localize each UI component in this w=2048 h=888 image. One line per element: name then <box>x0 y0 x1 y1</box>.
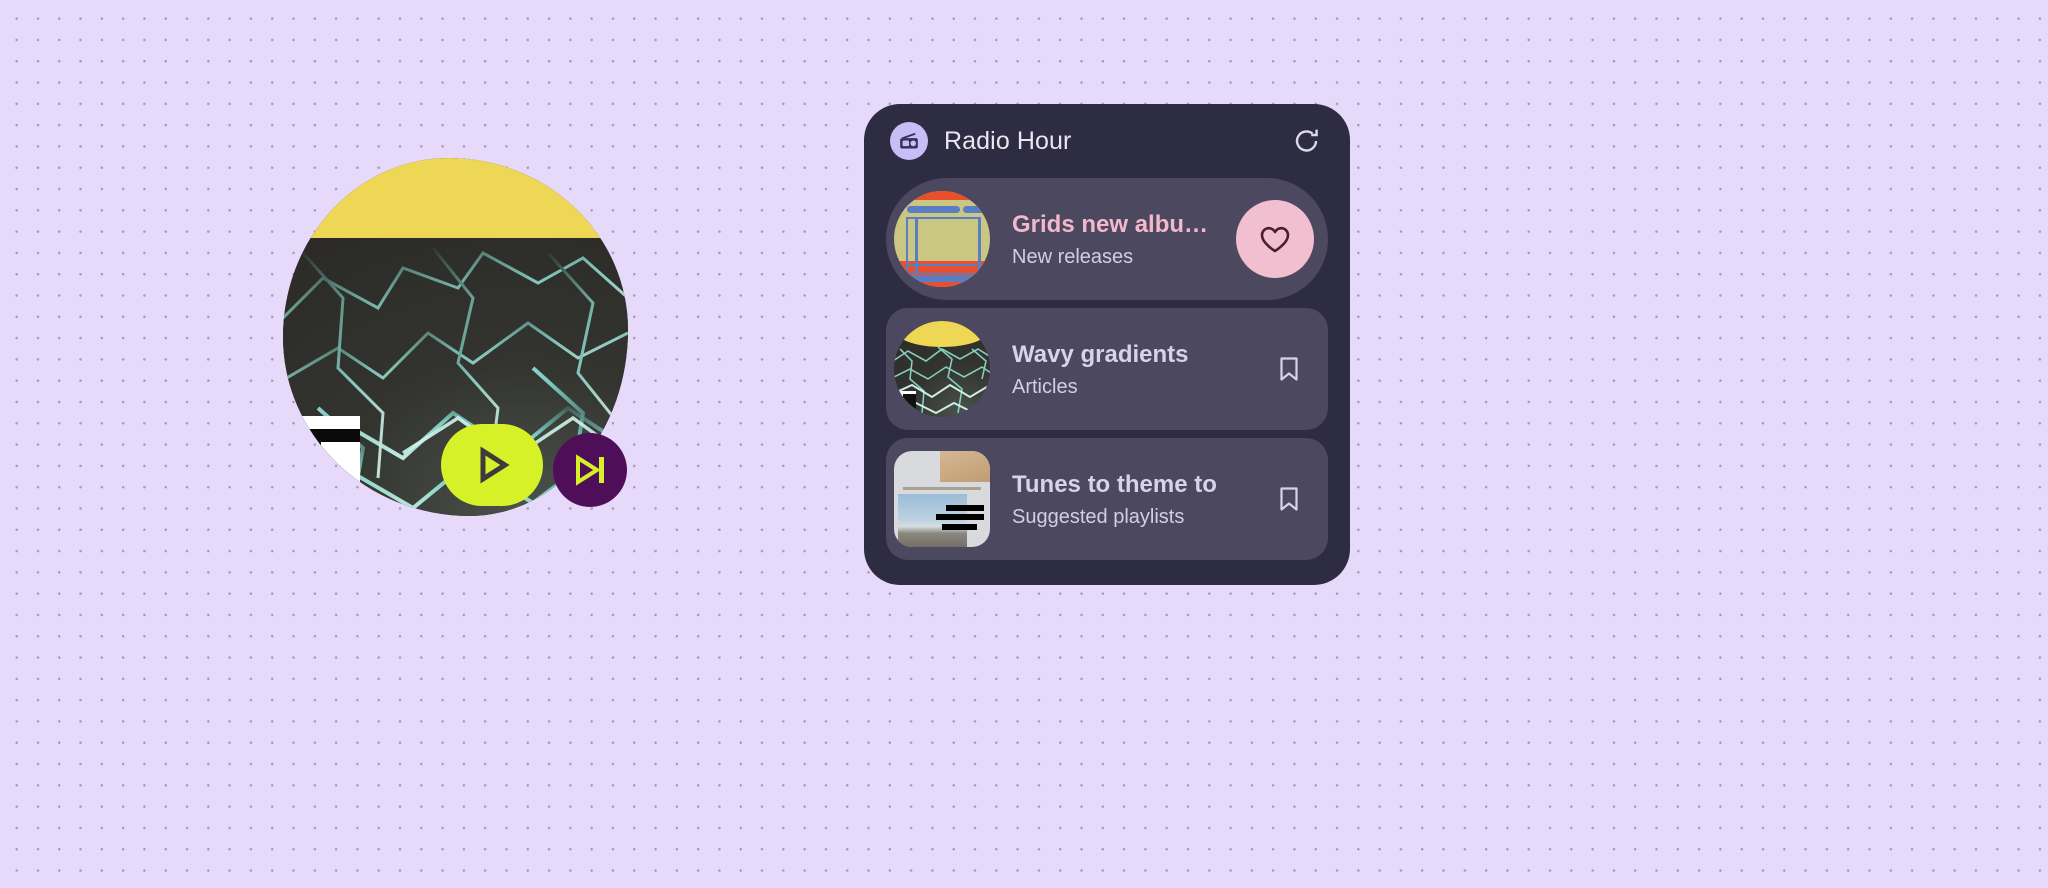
play-button[interactable] <box>441 424 543 506</box>
refresh-button[interactable] <box>1290 124 1324 158</box>
skip-next-icon <box>570 450 610 490</box>
wavy-gradients-artwork <box>894 321 990 417</box>
magazine-photo-artwork <box>894 451 990 547</box>
bookmark-icon <box>1274 354 1304 384</box>
item-list: Grids new album r… New releases <box>886 178 1328 560</box>
list-item[interactable]: Grids new album r… New releases <box>886 178 1328 300</box>
app-icon-badge <box>890 122 928 160</box>
item-text: Grids new album r… New releases <box>1012 210 1236 269</box>
item-subtitle: Suggested playlists <box>1012 506 1258 529</box>
item-thumbnail <box>894 451 990 547</box>
item-text: Wavy gradients Articles <box>1012 340 1268 399</box>
bookmark-button[interactable] <box>1268 478 1310 520</box>
next-button[interactable] <box>553 433 627 507</box>
item-thumbnail <box>894 191 990 287</box>
radio-icon <box>898 130 920 152</box>
grids-album-artwork <box>894 191 990 287</box>
item-thumbnail <box>894 321 990 417</box>
heart-icon <box>1257 221 1293 257</box>
radio-hour-widget: Radio Hour <box>864 104 1350 585</box>
album-artwork-corner-mark <box>295 416 360 488</box>
like-button[interactable] <box>1236 200 1314 278</box>
item-title: Wavy gradients <box>1012 340 1258 370</box>
item-subtitle: Articles <box>1012 376 1258 399</box>
bookmark-button[interactable] <box>1268 348 1310 390</box>
bookmark-icon <box>1274 484 1304 514</box>
item-text: Tunes to theme to Suggested playlists <box>1012 470 1268 529</box>
list-item[interactable]: Wavy gradients Articles <box>886 308 1328 430</box>
item-title: Grids new album r… <box>1012 210 1226 240</box>
list-item[interactable]: Tunes to theme to Suggested playlists <box>886 438 1328 560</box>
album-art-player <box>283 158 628 516</box>
widget-header: Radio Hour <box>886 104 1328 178</box>
refresh-icon <box>1292 126 1322 156</box>
page-title: Radio Hour <box>944 127 1071 156</box>
item-title: Tunes to theme to <box>1012 470 1258 500</box>
play-icon <box>471 444 513 486</box>
item-subtitle: New releases <box>1012 246 1226 269</box>
